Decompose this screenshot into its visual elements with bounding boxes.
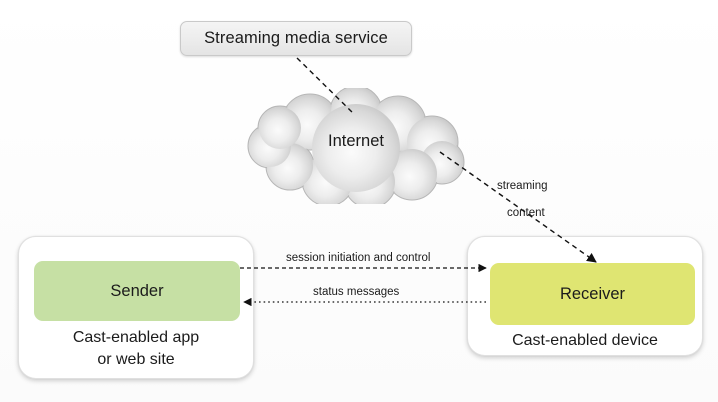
sender-caption-line-1: Cast-enabled app [19, 327, 253, 349]
diagram-canvas: Streaming media service [0, 0, 718, 402]
streaming-media-service-label: Streaming media service [204, 29, 388, 48]
sender-caption-line-2: or web site [19, 349, 253, 371]
sender-label: Sender [110, 282, 163, 301]
receiver-label: Receiver [560, 285, 625, 304]
node-sender-card[interactable]: Sender Cast-enabled app or web site [18, 236, 254, 379]
cloud-shape-icon [246, 88, 466, 204]
receiver-caption: Cast-enabled device [468, 330, 702, 352]
node-sender[interactable]: Sender [34, 261, 240, 321]
node-receiver[interactable]: Receiver [490, 263, 695, 325]
streaming-content-line-1: streaming [497, 180, 548, 194]
node-internet-cloud[interactable]: Internet [246, 88, 466, 204]
edge-label-session-initiation: session initiation and control [286, 252, 430, 265]
edge-label-streaming-content: streaming content [497, 166, 548, 234]
streaming-content-line-2: content [497, 207, 548, 221]
edge-label-status-messages: status messages [313, 286, 399, 299]
node-receiver-card[interactable]: Receiver Cast-enabled device [467, 236, 703, 356]
sender-caption: Cast-enabled app or web site [19, 327, 253, 371]
node-streaming-media-service[interactable]: Streaming media service [180, 21, 412, 56]
